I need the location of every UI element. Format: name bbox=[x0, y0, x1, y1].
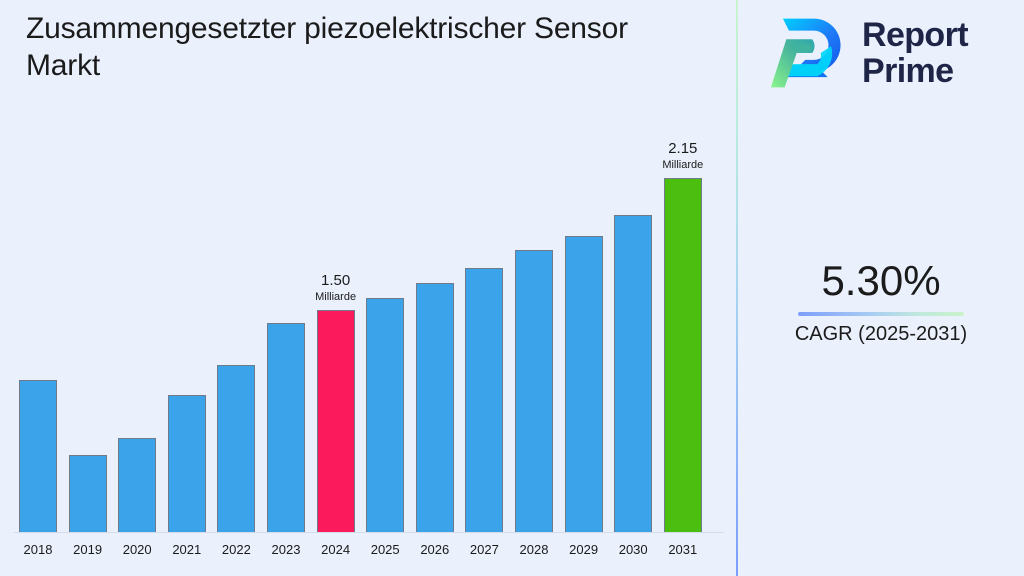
x-axis-tick-2022: 2022 bbox=[211, 542, 261, 558]
bar-2021 bbox=[168, 395, 206, 532]
x-axis-tick-2025: 2025 bbox=[360, 542, 410, 558]
x-axis-tick-2023: 2023 bbox=[261, 542, 311, 558]
bar-value-unit-2031: Milliarde bbox=[638, 158, 728, 172]
bar-2029 bbox=[565, 236, 603, 532]
x-axis-line bbox=[14, 532, 724, 533]
cagr-divider-rule bbox=[798, 312, 964, 316]
x-axis-tick-2029: 2029 bbox=[559, 542, 609, 558]
x-axis-tick-2027: 2027 bbox=[459, 542, 509, 558]
bar-2027 bbox=[465, 268, 503, 532]
x-axis-tick-2026: 2026 bbox=[410, 542, 460, 558]
brand-wordmark-line-2: Prime bbox=[862, 53, 968, 89]
bar-value-number-2024: 1.50 bbox=[291, 272, 381, 290]
bar-2018 bbox=[19, 380, 57, 532]
bar-value-label-2031: 2.15Milliarde bbox=[638, 140, 728, 172]
cagr-value: 5.30% bbox=[738, 256, 1024, 306]
bar-2031 bbox=[664, 178, 702, 532]
bar-2030 bbox=[614, 215, 652, 532]
bar-value-number-2031: 2.15 bbox=[638, 140, 728, 158]
bar-2025 bbox=[366, 298, 404, 532]
x-axis-tick-2021: 2021 bbox=[162, 542, 212, 558]
side-panel: Report Prime 5.30% CAGR (2025-2031) bbox=[738, 0, 1024, 576]
chart-infographic-page: Zusammengesetzter piezoelektrischer Sens… bbox=[0, 0, 1024, 576]
x-axis-tick-2030: 2030 bbox=[608, 542, 658, 558]
cagr-caption: CAGR (2025-2031) bbox=[738, 321, 1024, 347]
x-axis-tick-2024: 2024 bbox=[311, 542, 361, 558]
brand-logo: Report Prime bbox=[764, 10, 968, 96]
bar-2020 bbox=[118, 438, 156, 532]
bar-2022 bbox=[217, 365, 255, 532]
chart-panel: Zusammengesetzter piezoelektrischer Sens… bbox=[0, 0, 737, 576]
bar-chart-plot-area: 2018201920202021202220231.50Milliarde202… bbox=[0, 0, 737, 534]
x-axis-tick-2019: 2019 bbox=[63, 542, 113, 558]
bar-2019 bbox=[69, 455, 107, 532]
x-axis-tick-2018: 2018 bbox=[13, 542, 63, 558]
bar-2023 bbox=[267, 323, 305, 532]
brand-wordmark: Report Prime bbox=[862, 17, 968, 89]
brand-wordmark-line-1: Report bbox=[862, 17, 968, 53]
bar-2024 bbox=[317, 310, 355, 532]
x-axis-tick-2020: 2020 bbox=[112, 542, 162, 558]
report-prime-r-logo-icon bbox=[764, 10, 850, 96]
bar-2026 bbox=[416, 283, 454, 532]
x-axis-tick-2031: 2031 bbox=[658, 542, 708, 558]
bar-2028 bbox=[515, 250, 553, 532]
x-axis-tick-2028: 2028 bbox=[509, 542, 559, 558]
cagr-block: 5.30% CAGR (2025-2031) bbox=[738, 256, 1024, 347]
